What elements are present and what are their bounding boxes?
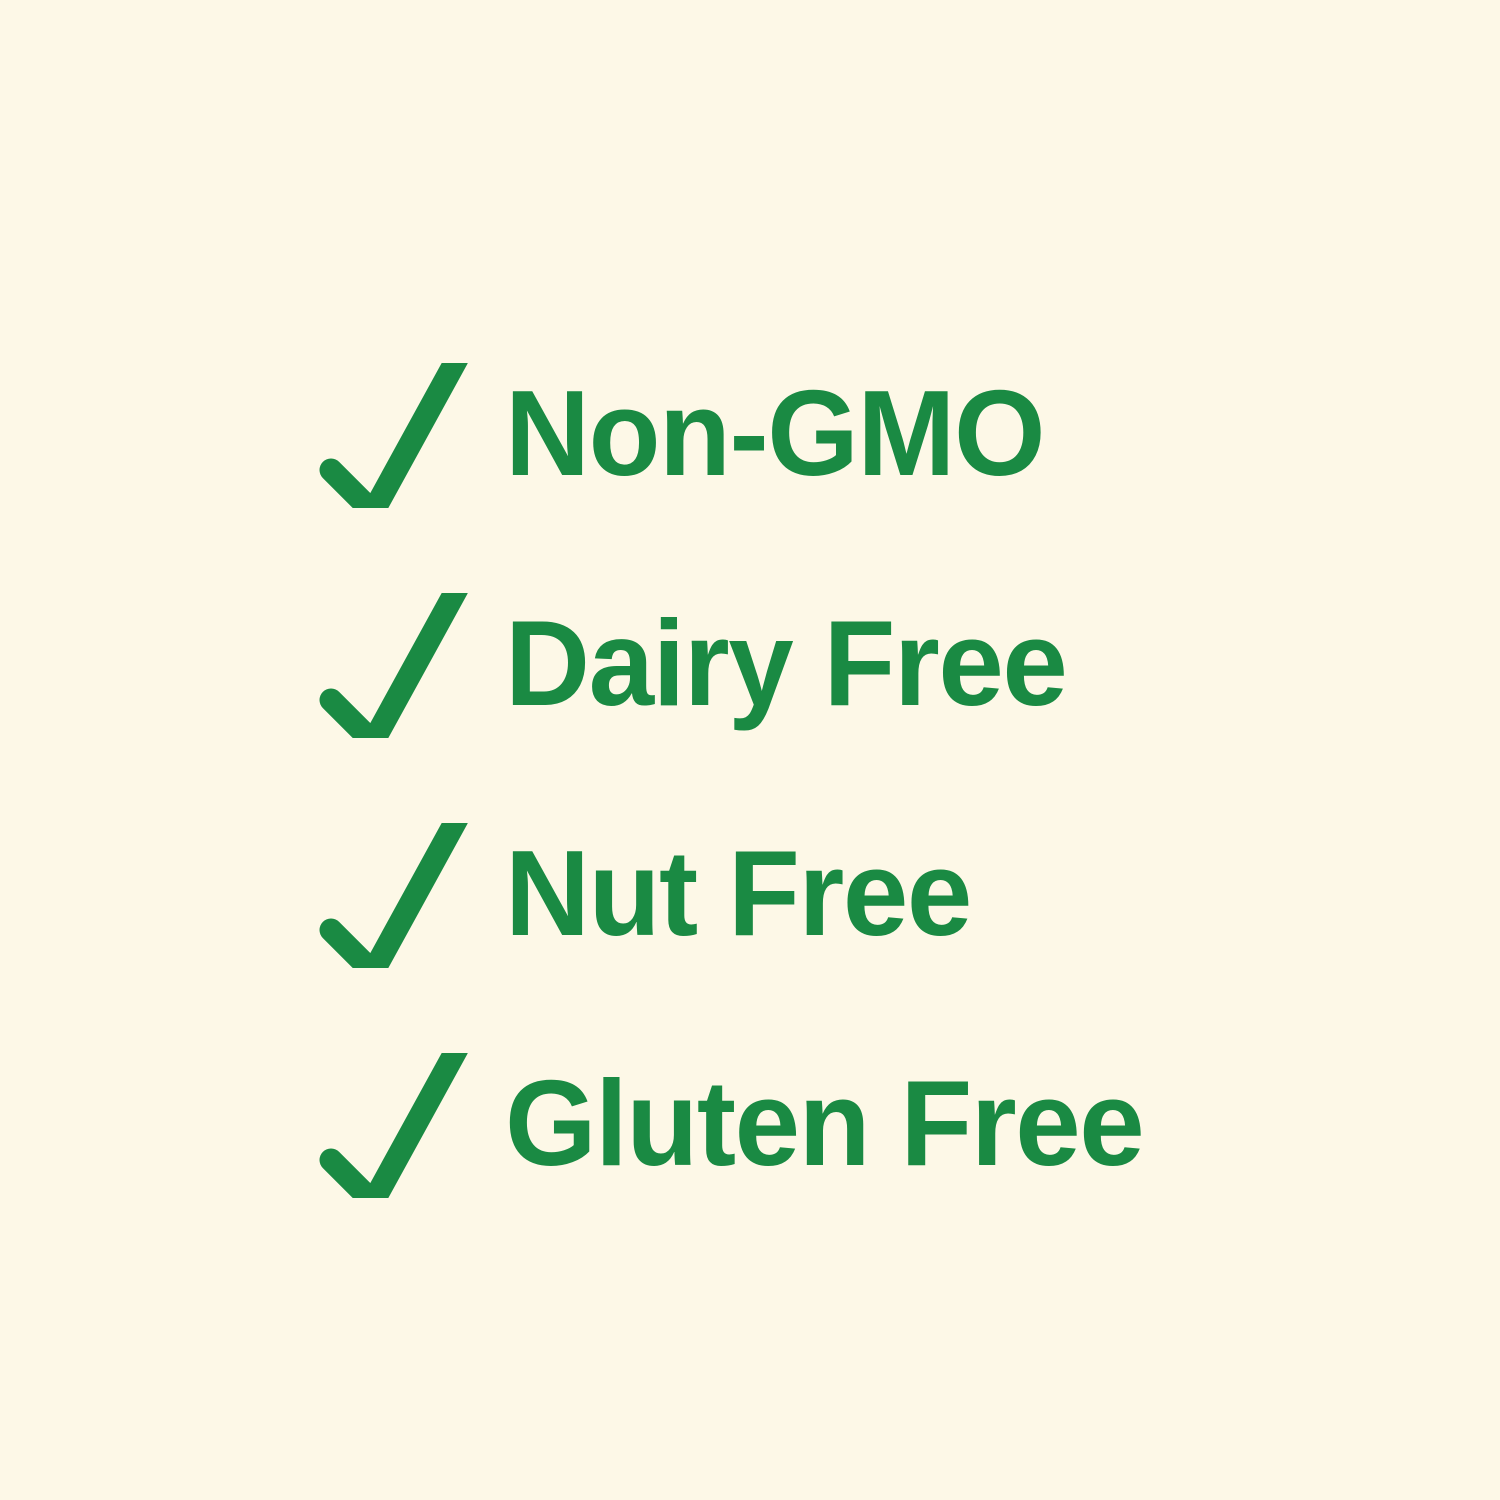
claim-label: Nut Free: [505, 832, 971, 954]
check-icon: [318, 593, 470, 738]
claim-row-nut-free: Nut Free: [310, 780, 1430, 1010]
check-icon: [318, 363, 470, 508]
claim-row-dairy-free: Dairy Free: [310, 550, 1430, 780]
claims-graphic: Non-GMO Dairy Free Nut Free: [0, 0, 1500, 1500]
claim-check-cell: [310, 593, 505, 738]
claim-check-cell: [310, 1053, 505, 1198]
claim-row-non-gmo: Non-GMO: [310, 320, 1430, 550]
claim-check-cell: [310, 823, 505, 968]
claim-label: Gluten Free: [505, 1062, 1143, 1184]
check-icon: [318, 1053, 470, 1198]
claim-label: Dairy Free: [505, 602, 1066, 724]
claims-list: Non-GMO Dairy Free Nut Free: [310, 320, 1430, 1240]
claim-row-gluten-free: Gluten Free: [310, 1010, 1430, 1240]
claim-check-cell: [310, 363, 505, 508]
check-icon: [318, 823, 470, 968]
claim-label: Non-GMO: [505, 372, 1044, 494]
